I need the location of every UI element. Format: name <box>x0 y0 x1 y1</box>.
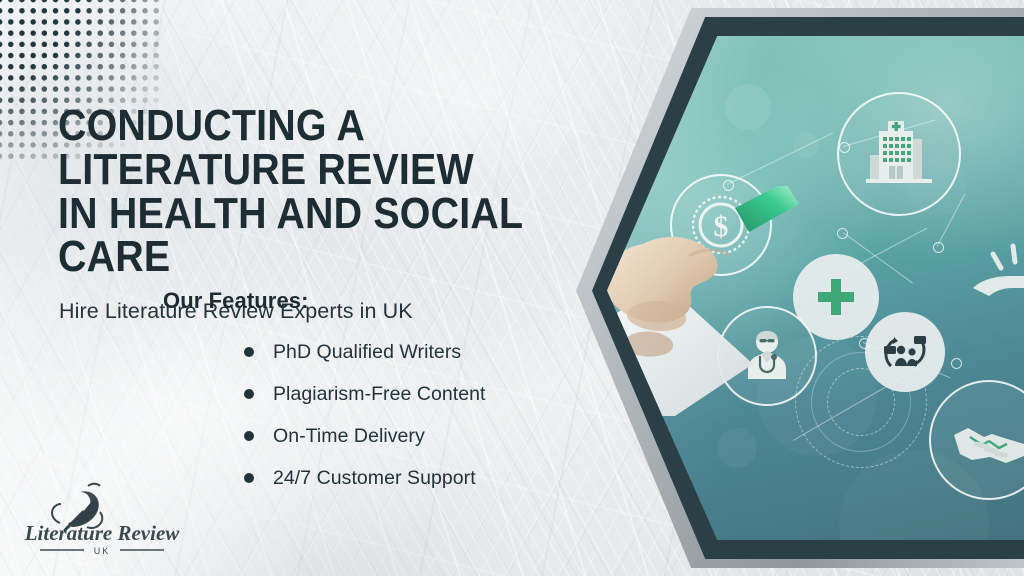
brand-logo[interactable]: Literature Review UK <box>22 478 182 560</box>
list-item: Plagiarism-Free Content <box>163 373 485 415</box>
feature-label: On-Time Delivery <box>273 425 425 448</box>
features-list: PhD Qualified Writers Plagiarism-Free Co… <box>163 331 485 499</box>
bullet-icon <box>244 473 254 483</box>
photo-glass-sheen <box>607 36 1024 540</box>
list-item: PhD Qualified Writers <box>163 331 485 373</box>
features-block: Our Features: PhD Qualified Writers Plag… <box>163 288 485 499</box>
dollar-coin-icon: $ <box>670 174 772 276</box>
list-item: 24/7 Customer Support <box>163 457 485 499</box>
feature-label: PhD Qualified Writers <box>273 341 461 364</box>
photo-network-layer <box>607 36 1024 540</box>
hospital-building-icon <box>837 92 961 216</box>
page-title: CONDUCTING A LITERATURE REVIEW IN HEALTH… <box>58 104 595 279</box>
features-heading: Our Features: <box>163 288 485 314</box>
doctor-icon <box>717 306 817 406</box>
list-item: On-Time Delivery <box>163 415 485 457</box>
bullet-icon <box>244 431 254 441</box>
caring-hand-icon <box>967 232 1024 322</box>
logo-region-text: UK <box>94 546 111 556</box>
bullet-icon <box>244 389 254 399</box>
promo-banner: $ <box>0 0 1024 576</box>
handshake-icon <box>929 380 1024 500</box>
logo-brand-text: Literature Review <box>24 521 181 545</box>
svg-text:$: $ <box>714 210 729 243</box>
communication-icon <box>865 312 945 392</box>
bullet-icon <box>244 347 254 357</box>
photo-bokeh-layer <box>607 36 1024 540</box>
hexagon-photo: $ <box>607 36 1024 540</box>
feature-label: 24/7 Customer Support <box>273 467 476 490</box>
feature-label: Plagiarism-Free Content <box>273 383 485 406</box>
medical-cross-icon <box>793 254 879 340</box>
